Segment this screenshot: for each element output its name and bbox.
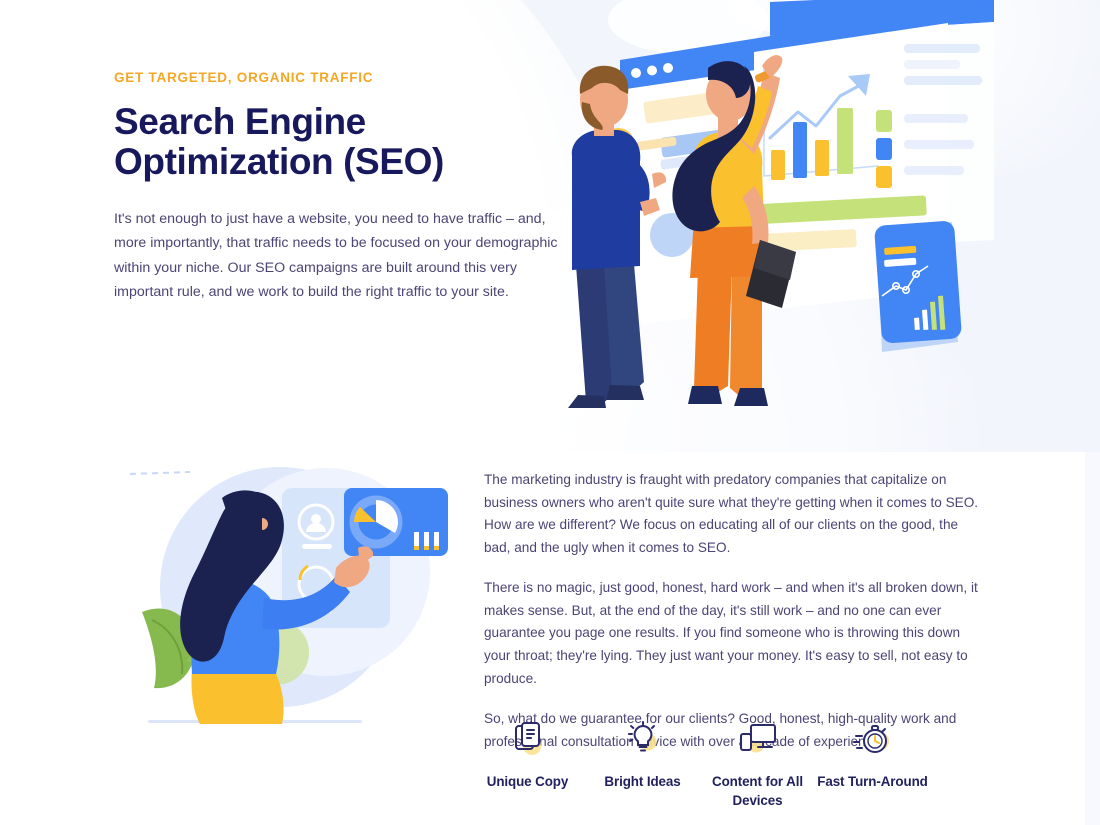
hero-section: GET TARGETED, ORGANIC TRAFFIC Search Eng… [0,0,1100,452]
lightbulb-icon [585,715,700,763]
feature-label: Content for All Devices [700,773,815,810]
about-copy-block: The marketing industry is fraught with p… [484,469,984,753]
hero-eyebrow: GET TARGETED, ORGANIC TRAFFIC [114,70,584,85]
feature-label: Unique Copy [470,773,585,792]
section-right-edge-strip [1085,452,1100,825]
about-paragraph-1: The marketing industry is fraught with p… [484,469,984,559]
page-title: Search Engine Optimization (SEO) [114,102,584,182]
hero-paragraph: It's not enough to just have a website, … [114,207,559,305]
feature-item-content-devices[interactable]: Content for All Devices [700,715,815,810]
about-illustration [130,452,480,742]
hero-copy-block: GET TARGETED, ORGANIC TRAFFIC Search Eng… [114,70,584,305]
feature-label: Fast Turn-Around [815,773,930,792]
stopwatch-icon [815,715,930,763]
feature-item-fast-turnaround[interactable]: Fast Turn-Around [815,715,930,810]
devices-icon [700,715,815,763]
hero-title-line-1: Search Engine [114,101,366,142]
feature-list: Unique Copy Bright Ideas [470,715,970,810]
feature-item-bright-ideas[interactable]: Bright Ideas [585,715,700,810]
feature-item-unique-copy[interactable]: Unique Copy [470,715,585,810]
hero-illustration [548,0,1100,452]
seo-landing-page: GET TARGETED, ORGANIC TRAFFIC Search Eng… [0,0,1100,825]
document-copy-icon [470,715,585,763]
hero-title-line-2: Optimization (SEO) [114,142,584,182]
about-paragraph-2: There is no magic, just good, honest, ha… [484,577,984,690]
feature-label: Bright Ideas [585,773,700,792]
